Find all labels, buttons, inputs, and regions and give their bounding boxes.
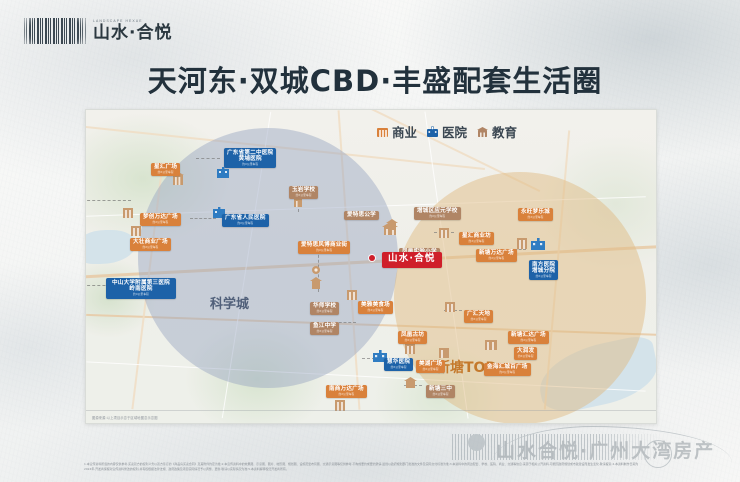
page-title: 天河东·双城CBD·丰盛配套生活圈	[85, 58, 665, 100]
legend-item-hospital: 医院	[426, 122, 467, 141]
poi-sub: 约X公里车程	[313, 310, 336, 313]
poi-fenghuang-old-street[interactable]: 凤凰古坊约X公里车程	[398, 328, 427, 346]
poi-sub: 约X公里车程	[417, 215, 458, 218]
poi-sub: 约X公里车程	[479, 257, 514, 260]
legend-label-education: 教育	[492, 122, 517, 141]
poi-yujiang-middle-school[interactable]: 鱼江中学约X公里车程	[310, 319, 339, 337]
poi-zengcheng-yingyuan-school[interactable]: 增城区应元学校约X公里车程	[414, 204, 461, 222]
map-legend: 商业 医院 教育	[376, 122, 517, 141]
project-marker-label: 山水·合悦	[388, 254, 436, 265]
legend-item-education: 教育	[476, 122, 517, 141]
barcode-mark-icon	[24, 18, 86, 44]
hospital-building-icon	[426, 126, 439, 138]
poi-sub: 约X公里车程	[227, 163, 273, 166]
poi-label: 广东省第二中医院	[227, 150, 273, 156]
poi-sub: 约X公里车程	[292, 194, 315, 197]
poi-sub: 约X公里车程	[225, 222, 266, 225]
poi-huashi-school[interactable]: 华师学校约X公里车程	[310, 299, 339, 317]
school-building-icon	[476, 126, 489, 138]
poi-sysu-3rd-hospital-lingnan[interactable]: 中山大学附属第三医院岭南医院约X公里车程	[106, 278, 176, 300]
poi-sub: 约X公里车程	[301, 249, 347, 252]
legend-label-hospital: 医院	[442, 122, 467, 141]
map-area-label-science-city: 科学城	[210, 293, 249, 312]
brand-logo-cn: 山水·合悦	[93, 25, 172, 42]
poi-xinghui-plaza[interactable]: 星汇广场约X公里车程	[151, 160, 180, 178]
poi-aitesi-academy[interactable]: 爱特思公学	[344, 203, 379, 221]
map-poi-icon	[444, 300, 456, 318]
poi-huihua-hospital[interactable]: 慧华医院约X公里车程	[384, 355, 413, 373]
map-poi-icon	[484, 338, 498, 356]
map-poi-icon	[310, 276, 322, 295]
poi-gd-provincial-peoples-hospital[interactable]: 广东省人民医院约X公里车程	[222, 211, 269, 229]
poi-sub: 约X公里车程	[419, 368, 442, 371]
poi-sub: 约X公里车程	[467, 318, 490, 321]
poi-sub: 约X公里车程	[511, 339, 546, 342]
poi-sub: 约X公里车程	[143, 221, 178, 224]
commercial-building-icon	[376, 126, 389, 138]
poi-jinhai-city-plaza[interactable]: 金海汇城百广场约X公里车程	[484, 360, 531, 378]
poi-sub: 约X公里车程	[532, 275, 555, 278]
poi-dazhuang-commercial-plaza[interactable]: 大壮商业广场约X公里车程	[130, 235, 171, 253]
map-poi-icon	[386, 218, 398, 236]
map-connector	[196, 158, 220, 159]
poi-sub: 约X公里车程	[112, 293, 170, 296]
poi-sub: 约X公里车程	[429, 393, 452, 396]
map-poi-icon	[122, 206, 134, 224]
poi-meihu-plaza[interactable]: 美湖广场约X公里车程	[416, 357, 445, 375]
project-marker[interactable]: 山水·合悦	[382, 248, 442, 268]
poi-sub: 约X公里车程	[329, 393, 364, 396]
poi-sub: 约X公里车程	[387, 366, 410, 369]
map-poi-icon	[346, 288, 358, 306]
poi-xintang-3rd-middle-school[interactable]: 新塘三中约X公里车程	[426, 382, 455, 400]
poi-sub: 约X公里车程	[154, 171, 177, 174]
project-location-dot	[369, 255, 375, 261]
poi-label: 爱特思公学	[347, 212, 376, 218]
poi-yuyan-school[interactable]: 玉岩学校约X公里车程	[289, 183, 318, 201]
map-poi-icon	[438, 226, 450, 244]
poi-sub: 约X公里车程	[517, 355, 534, 358]
map-caption: 图源来源:以上项目示意于区域地图意示意图	[92, 415, 158, 420]
poi-guanghui-tiandi[interactable]: 广汇天地约X公里车程	[464, 307, 493, 325]
poi-xinghui-commercial-fang[interactable]: 星汇商业坊约X公里车程	[459, 229, 494, 247]
map-poi-icon	[404, 376, 417, 394]
poi-sub: 约X公里车程	[313, 330, 336, 333]
brand-logo: LANDSCAPE HEXUE 山水·合悦	[24, 18, 172, 44]
poi-aeon-mall[interactable]: 永旺梦乐城约X公里车程	[518, 205, 553, 223]
brand-logo-text: LANDSCAPE HEXUE 山水·合悦	[93, 20, 172, 42]
map-poi-icon	[334, 398, 346, 417]
poi-xintang-wanda-plaza[interactable]: 新塘万达广场约X公里车程	[476, 246, 517, 264]
poi-aitesi-fengbo-street[interactable]: 爱特思风博商业街约X公里车程	[298, 238, 350, 256]
poi-mengchuang-wanda-plaza[interactable]: 梦创万达广场约X公里车程	[140, 210, 181, 228]
location-map[interactable]: 科学城 新塘TOD 商业	[85, 109, 657, 424]
map-poi-icon	[516, 236, 528, 255]
poi-sub: 约X公里车程	[462, 240, 491, 243]
poi-nanshang-wanda-plaza[interactable]: 南商万达广场约X公里车程	[326, 382, 367, 400]
poi-sub: 约X公里车程	[521, 216, 550, 219]
poi-sub: 约X公里车程	[487, 371, 528, 374]
legend-label-commercial: 商业	[392, 122, 417, 141]
poi-nanfang-hospital-zengcheng[interactable]: 南方医院增城分院约X公里车程	[529, 260, 558, 282]
map-poi-icon	[530, 238, 546, 256]
poi-label: 南方医院	[532, 262, 555, 268]
poi-gd-2nd-tcm-huangpu[interactable]: 广东省第二中医院黄埔医院约X公里车程	[224, 148, 276, 170]
poi-sub: 约X公里车程	[401, 339, 424, 342]
legal-disclaimer: 1.本宣传资料所载的内容仅供参考,买卖双方的权利义务以双方签订的《商品房买卖合同…	[84, 462, 644, 471]
map-caption-divider	[86, 410, 656, 411]
poi-sub: 约X公里车程	[361, 309, 390, 312]
poi-meiya-food-court[interactable]: 美雅美食场约X公里车程	[358, 298, 393, 316]
poi-sub: 约X公里车程	[133, 246, 168, 249]
legend-item-commercial: 商业	[376, 122, 417, 141]
